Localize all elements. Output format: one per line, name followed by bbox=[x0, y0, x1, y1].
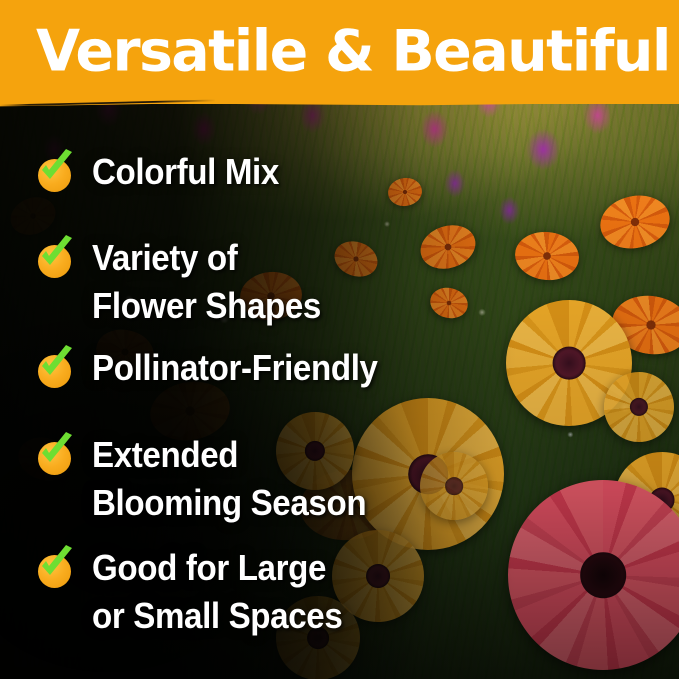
check-circle-icon bbox=[36, 238, 74, 276]
check-circle-icon bbox=[36, 152, 74, 190]
list-item: Good for Large or Small Spaces bbox=[36, 544, 364, 640]
list-item: Colorful Mix bbox=[36, 148, 295, 196]
header-band: Versatile & Beautiful bbox=[0, 0, 679, 104]
list-item-label: Colorful Mix bbox=[92, 148, 279, 196]
benefit-list: Colorful Mix Variety of Flower Shapes Po… bbox=[0, 104, 679, 679]
list-item-label: Pollinator-Friendly bbox=[92, 344, 378, 392]
check-mark-icon bbox=[35, 234, 75, 274]
check-circle-icon bbox=[36, 348, 74, 386]
list-item: Variety of Flower Shapes bbox=[36, 234, 341, 330]
check-mark-icon bbox=[35, 544, 75, 584]
product-feature-poster: Versatile & Beautiful Colorful Mix Varie… bbox=[0, 0, 679, 679]
list-item: Pollinator-Friendly bbox=[36, 344, 402, 392]
list-item: Extended Blooming Season bbox=[36, 431, 390, 527]
check-mark-icon bbox=[35, 431, 75, 471]
list-item-label: Good for Large or Small Spaces bbox=[92, 544, 342, 640]
check-circle-icon bbox=[36, 435, 74, 473]
check-mark-icon bbox=[35, 148, 75, 188]
check-mark-icon bbox=[35, 344, 75, 384]
list-item-label: Variety of Flower Shapes bbox=[92, 234, 321, 330]
list-item-label: Extended Blooming Season bbox=[92, 431, 366, 527]
check-circle-icon bbox=[36, 548, 74, 586]
page-title: Versatile & Beautiful bbox=[36, 24, 670, 81]
